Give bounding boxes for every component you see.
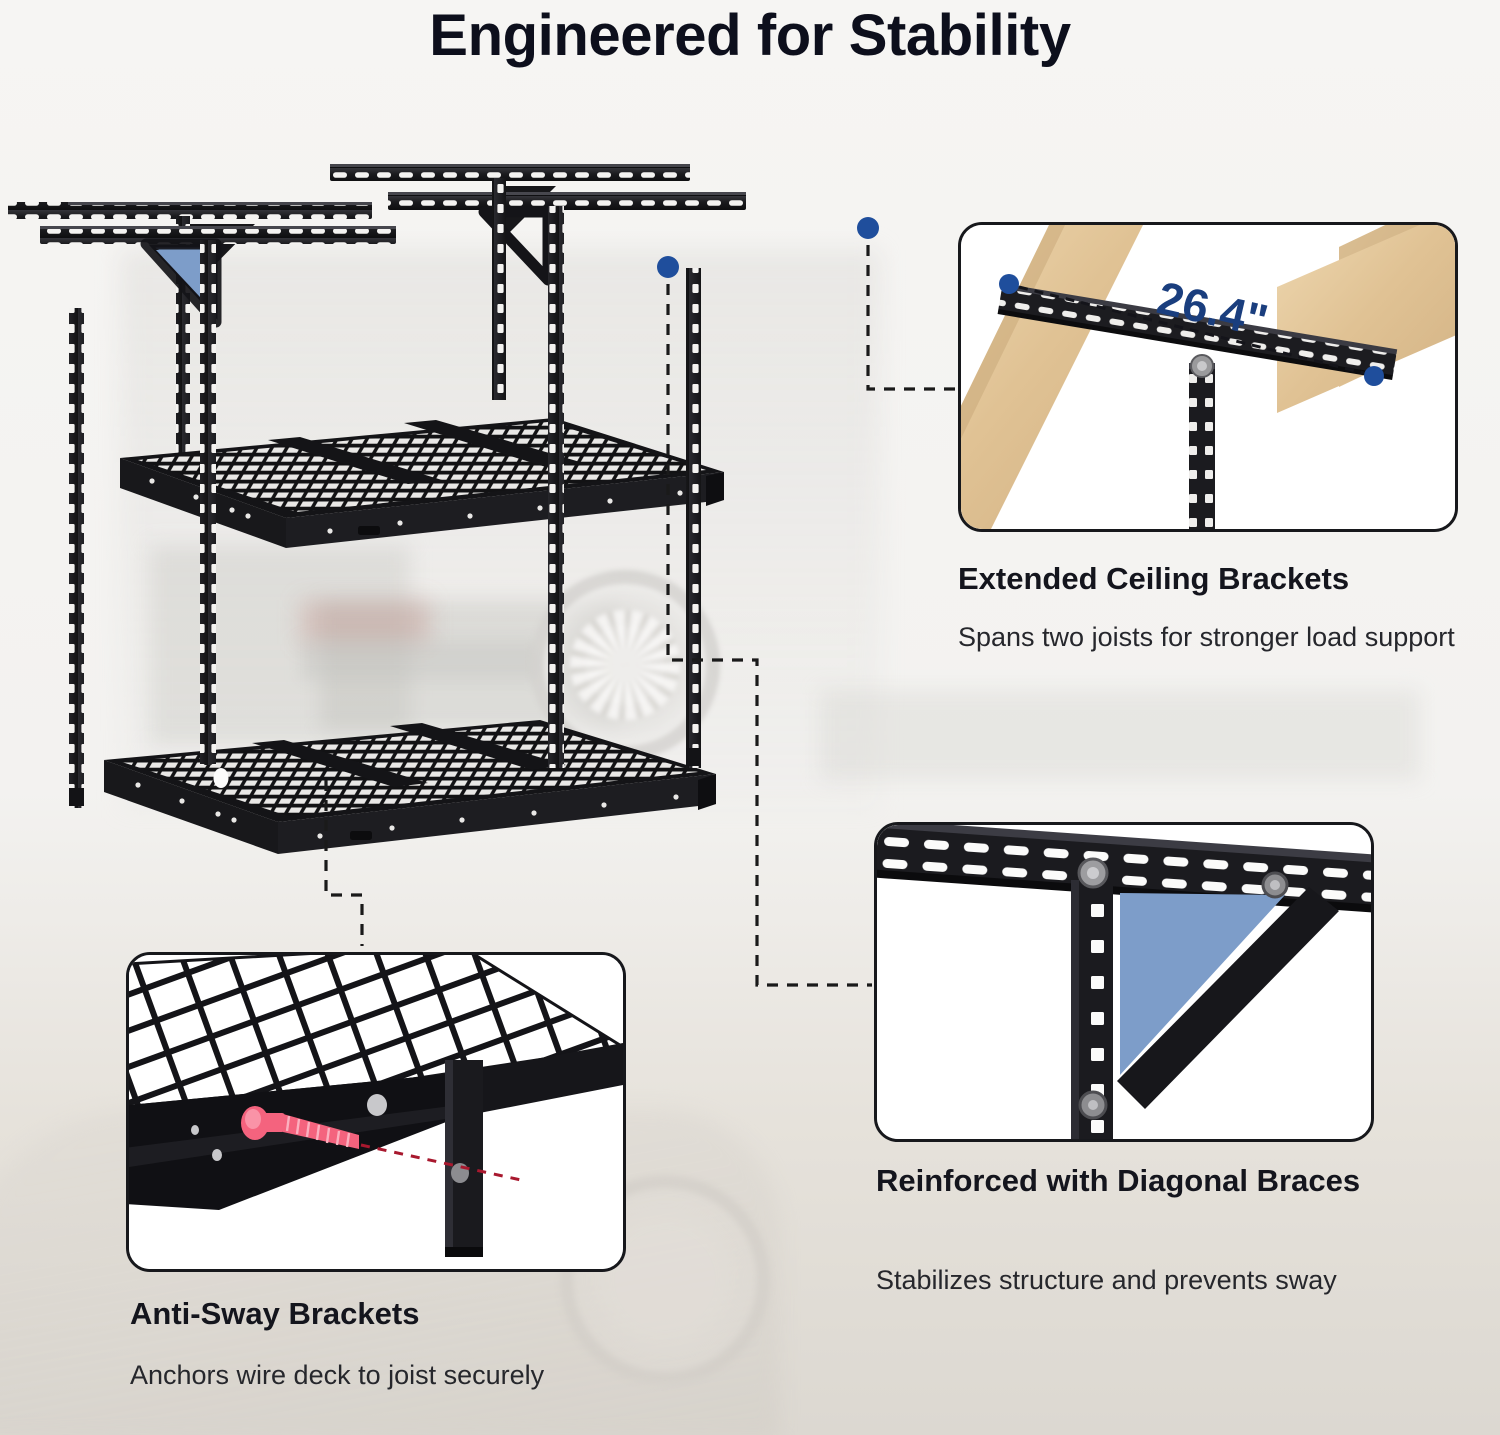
callout-heading-diagonal-braces: Reinforced with Diagonal Braces	[876, 1163, 1376, 1200]
product-illustration	[0, 140, 880, 940]
measure-dot-right	[1364, 366, 1384, 386]
infographic-canvas: Engineered for Stability	[0, 0, 1500, 1435]
diagonal-brace-detail-image	[877, 825, 1371, 1139]
callout-body-anti-sway-brackets: Anchors wire deck to joist securely	[130, 1358, 790, 1392]
callout-heading-ceiling-brackets: Extended Ceiling Brackets	[958, 561, 1478, 598]
callout-card-ceiling-brackets	[958, 222, 1458, 532]
page-title: Engineered for Stability	[0, 2, 1500, 69]
background-shelf	[820, 690, 1420, 780]
lower-shelf	[104, 720, 716, 854]
callout-body-ceiling-brackets: Spans two joists for stronger load suppo…	[958, 620, 1468, 654]
ceiling-bracket-detail-image	[961, 225, 1455, 529]
callout-card-diagonal-braces	[874, 822, 1374, 1142]
callout-heading-anti-sway-brackets: Anti-Sway Brackets	[130, 1296, 750, 1333]
callout-card-anti-sway-brackets	[126, 952, 626, 1272]
anti-sway-bracket-detail-image	[129, 955, 623, 1269]
callout-body-diagonal-braces: Stabilizes structure and prevents sway	[876, 1263, 1376, 1297]
measure-dot-left	[999, 274, 1019, 294]
